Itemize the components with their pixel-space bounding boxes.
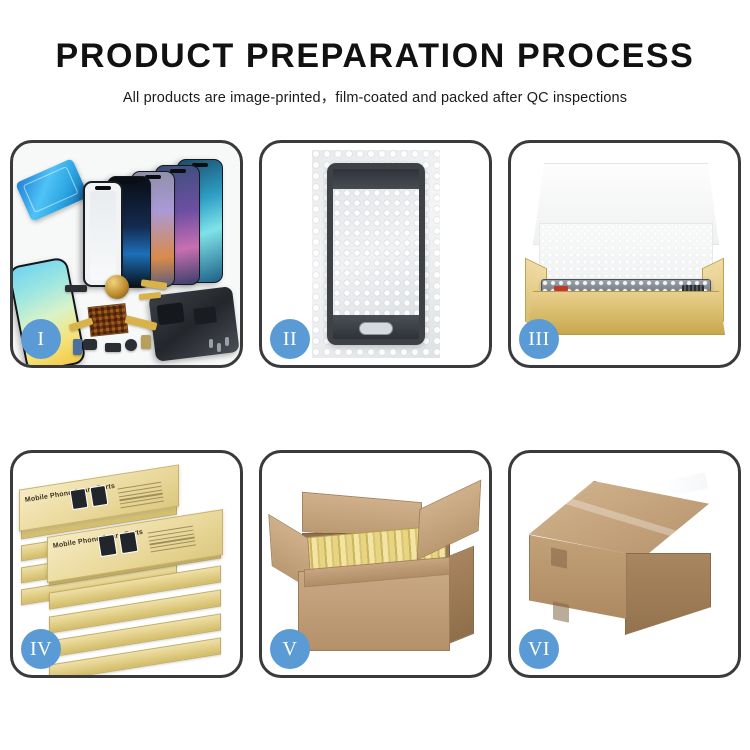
screw-icon (217, 343, 221, 352)
step-badge-2: II (270, 319, 310, 359)
screen-protector-film-icon (15, 158, 89, 222)
button-part-icon (125, 339, 137, 351)
process-step-4: Mobile Phone Spare Parts Mobile Phone Sp… (10, 450, 243, 678)
step-badge-3: III (519, 319, 559, 359)
sim-tray-icon (141, 335, 151, 349)
process-step-1: I (10, 140, 243, 368)
product-preparation-infographic: PRODUCT PREPARATION PROCESS All products… (0, 0, 750, 750)
header: PRODUCT PREPARATION PROCESS All products… (0, 0, 750, 107)
phone-back-housing-icon (148, 286, 239, 362)
step-badge-1: I (21, 319, 61, 359)
lcd-screen-stack (81, 157, 240, 297)
page-subtitle: All products are image-printed，film-coat… (0, 86, 750, 107)
earpiece-speaker-icon (65, 285, 87, 292)
process-step-grid: I II (10, 140, 740, 740)
process-step-3: III (508, 140, 741, 368)
loudspeaker-icon (105, 343, 121, 352)
carton-right-face (625, 553, 711, 635)
circuit-chip-icon (88, 303, 129, 337)
wrapped-phone-screen (327, 163, 425, 345)
carton-flap-tab (553, 601, 569, 622)
vibration-motor-icon (105, 275, 129, 299)
page-title: PRODUCT PREPARATION PROCESS (0, 38, 750, 75)
home-button-icon (359, 322, 393, 335)
step-badge-5: V (270, 629, 310, 669)
box-product-thumbnail (70, 488, 89, 510)
box-product-thumbnail (118, 531, 138, 554)
step-badge-6: VI (519, 629, 559, 669)
kraft-box-front (527, 291, 725, 335)
process-step-5: V (259, 450, 492, 678)
box-product-thumbnail (97, 534, 117, 557)
box-product-thumbnail (90, 485, 109, 507)
step-badge-4: IV (21, 629, 61, 669)
screw-icon (225, 337, 229, 346)
camera-module-icon (83, 339, 97, 350)
packing-tape-glint (660, 472, 708, 497)
screw-icon (209, 339, 213, 348)
battery-connector-icon (73, 339, 82, 355)
carton-flap-tab (551, 547, 567, 568)
process-step-6: VI (508, 450, 741, 678)
process-step-2: II (259, 140, 492, 368)
phone-screen-icon (83, 181, 123, 287)
